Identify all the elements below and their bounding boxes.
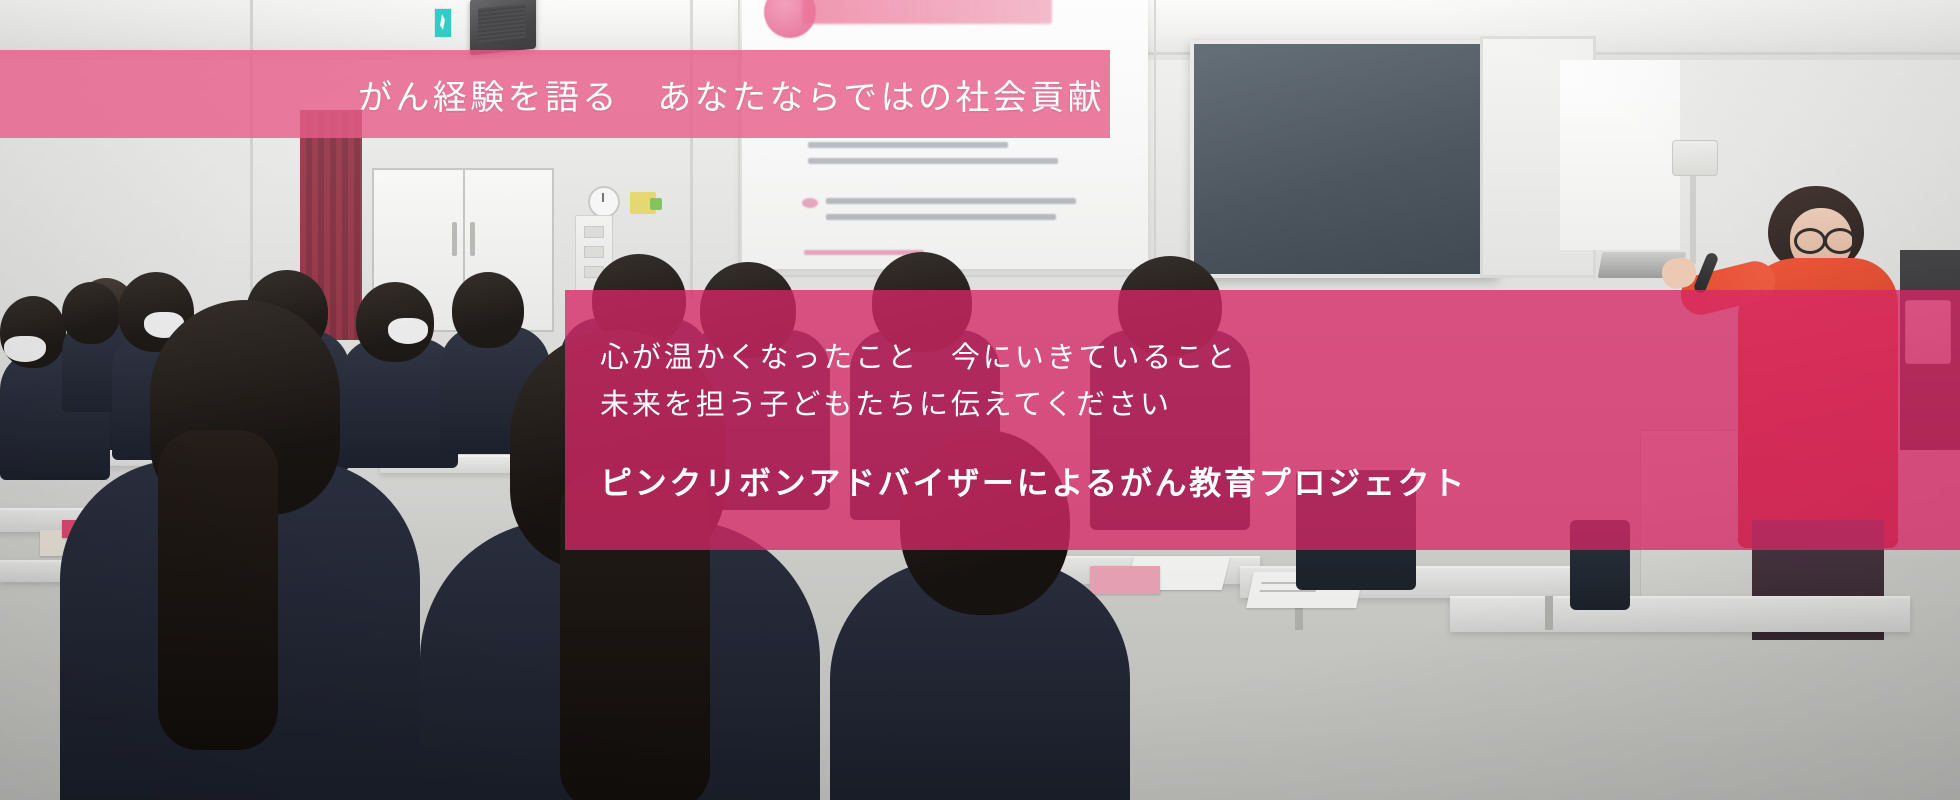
caption-line-1: 心が温かくなったこと 今にいきていること [600,334,1960,381]
paper-line [1260,590,1316,592]
wall-seam [250,0,253,300]
banner-title: がん経験を語る あなたならではの社会貢献 [358,70,1105,119]
blackboard [1190,40,1498,278]
caption-line-2: 未来を担う子どもたちに伝えてください [600,381,1960,428]
window [1560,60,1680,250]
screen-frame [738,0,1156,277]
wall-seam [690,0,693,300]
glasses-icon [1794,228,1826,254]
top-title-banner: がん経験を語る あなたならではの社会貢献 [0,50,1110,138]
glasses-icon [1824,228,1856,254]
door-handle [452,222,457,256]
projector-head [1672,140,1718,176]
ceiling-speaker [470,0,536,55]
control-button [584,226,604,238]
door-handle [470,222,475,256]
pink-booklet [1090,566,1160,594]
exit-sign-icon [434,8,452,38]
desk-leg [1545,596,1553,630]
caption-panel: 心が温かくなったこと 今にいきていること 未来を担う子どもたちに伝えてください … [565,290,1960,550]
wall-clock [588,186,620,218]
caption-headline: ピンクリボンアドバイザーによるがん教育プロジェクト [600,458,1960,504]
wall-indicator [650,198,662,210]
control-button [584,246,604,258]
desk [1450,596,1910,632]
hero-banner-image: がん経験を語る あなたならではの社会貢献 心が温かくなったこと 今にいきているこ… [0,0,1960,800]
